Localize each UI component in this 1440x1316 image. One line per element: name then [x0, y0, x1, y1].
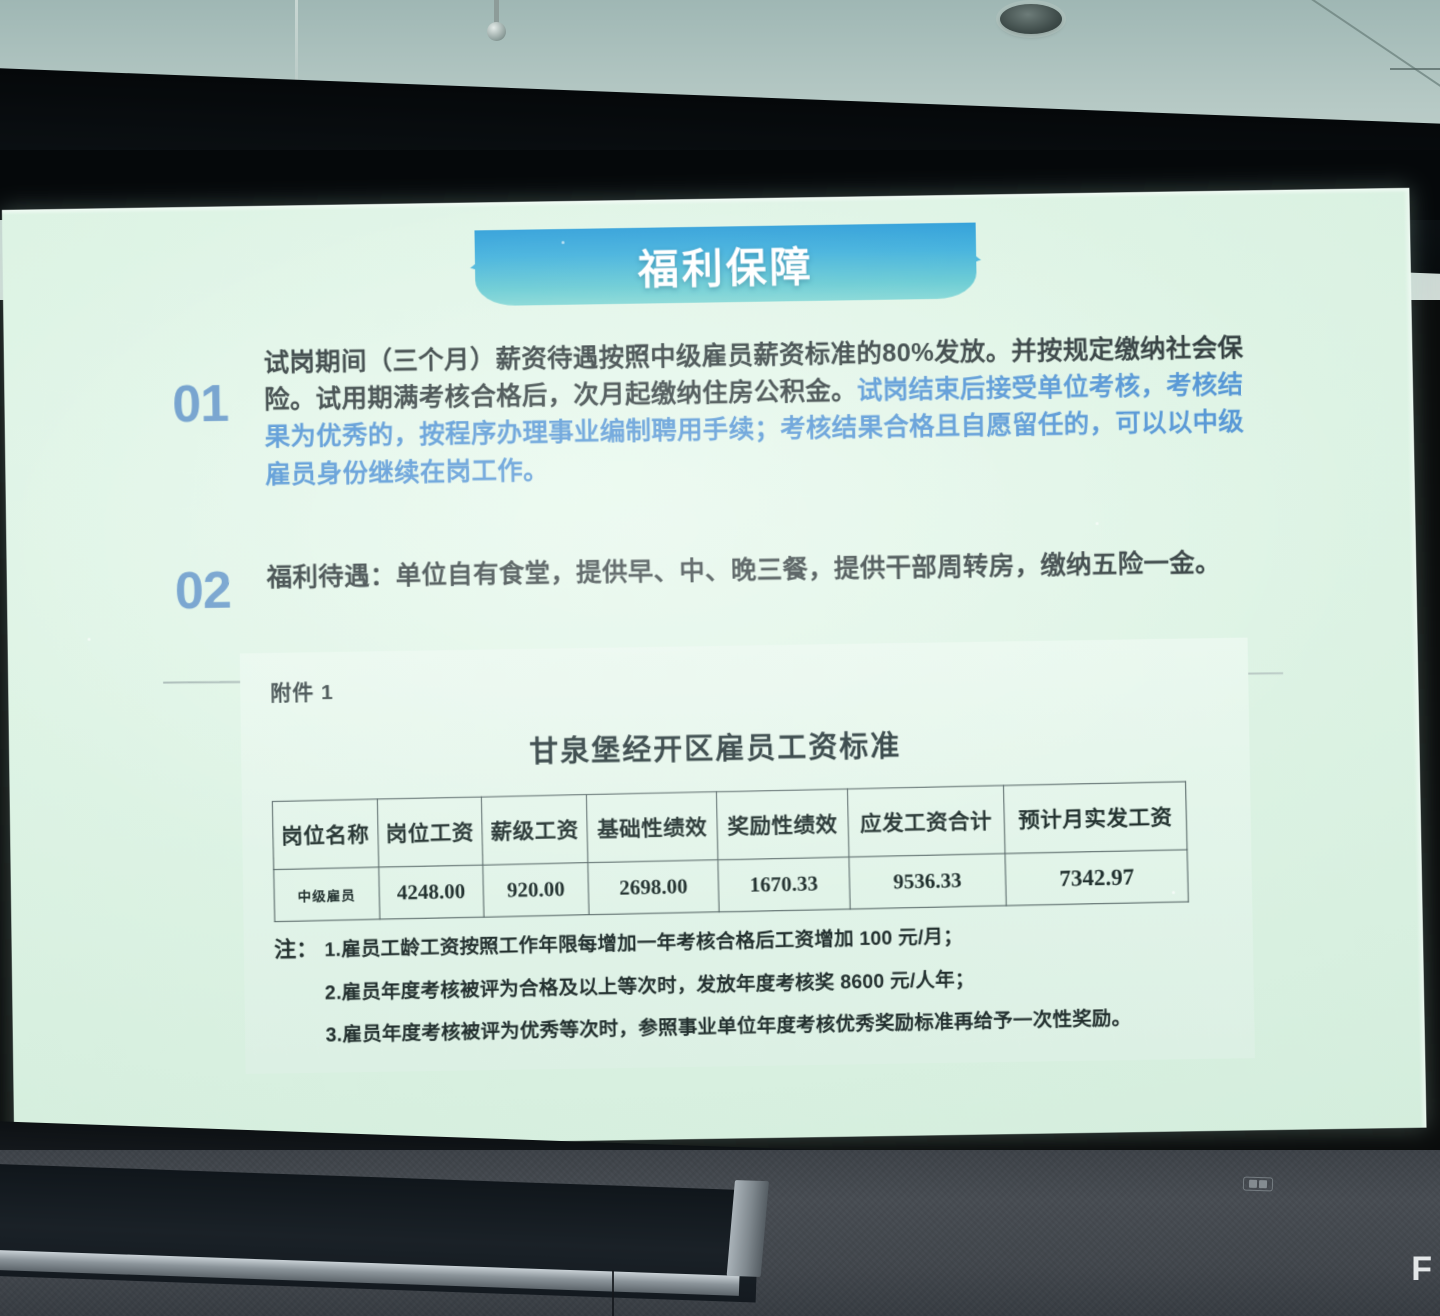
- item-body-01: 试岗期间（三个月）薪资待遇按照中级雇员薪资标准的80%发放。并按规定缴纳社会保险…: [263, 330, 1264, 494]
- cell-grade-salary: 920.00: [483, 863, 589, 917]
- brand-badge-icon: [1243, 1176, 1273, 1191]
- th-base-performance: 基础性绩效: [586, 792, 718, 863]
- cell-gross-total: 9536.33: [849, 854, 1007, 909]
- notes-lead: 注：: [274, 936, 319, 962]
- slide-item-02: 02 福利待遇：单位自有食堂，提供早、中、晚三餐，提供干部周转房，缴纳五险一金。: [7, 542, 1417, 620]
- dust-speck: [1096, 522, 1099, 525]
- cell-base-performance: 2698.00: [588, 860, 720, 915]
- cell-estimated-net: 7342.97: [1005, 850, 1188, 906]
- sprinkler-head-icon: [487, 22, 506, 41]
- conference-room-scene: 福利保障 01 试岗期间（三个月）薪资待遇按照中级雇员薪资标准的80%发放。并按…: [0, 0, 1440, 1316]
- th-bonus-performance: 奖励性绩效: [717, 789, 849, 860]
- slide-title: 福利保障: [443, 222, 1009, 307]
- slide-item-list: 01 试岗期间（三个月）薪资待遇按照中级雇员薪资标准的80%发放。并按规定缴纳社…: [4, 327, 1417, 620]
- th-grade-salary: 薪级工资: [482, 795, 588, 865]
- wall-panel-seam: [612, 1270, 614, 1316]
- cell-post-name: 中级雇员: [274, 867, 380, 921]
- dust-speck: [88, 638, 91, 641]
- th-post-salary: 岗位工资: [377, 797, 483, 867]
- th-gross-total: 应发工资合计: [847, 786, 1005, 857]
- watermark: F: [1411, 1252, 1432, 1286]
- th-post-name: 岗位名称: [272, 799, 378, 869]
- slide-canvas: 福利保障 01 试岗期间（三个月）薪资待遇按照中级雇员薪资标准的80%发放。并按…: [2, 188, 1427, 1150]
- cell-bonus-performance: 1670.33: [718, 857, 850, 912]
- note-item-3: 3.雇员年度考核被评为优秀等次时，参照事业单位年度考核优秀奖励标准再给予一次性奖…: [275, 999, 1225, 1048]
- dust-speck: [562, 241, 565, 244]
- projected-slide: 福利保障 01 试岗期间（三个月）薪资待遇按照中级雇员薪资标准的80%发放。并按…: [2, 188, 1427, 1150]
- note-item-2: 2.雇员年度考核被评为合格及以上等次时，发放年度考核奖 8600 元/人年；: [275, 957, 1224, 1006]
- item-number-02: 02: [175, 564, 268, 617]
- item-02-text-dark: 福利待遇：单位自有食堂，提供早、中、晚三餐，提供干部周转房，缴纳五险一金。: [266, 549, 1221, 592]
- attachment-label: 附件 1: [270, 662, 1218, 707]
- slide-item-01: 01 试岗期间（三个月）薪资待遇按照中级雇员薪资标准的80%发放。并按规定缴纳社…: [4, 327, 1415, 498]
- wage-standard-table: 岗位名称 岗位工资 薪级工资 基础性绩效 奖励性绩效 应发工资合计 预计月实发工…: [272, 781, 1189, 922]
- item-body-02: 福利待遇：单位自有食堂，提供早、中、晚三餐，提供干部周转房，缴纳五险一金。: [266, 544, 1266, 597]
- attachment-document: 附件 1 甘泉堡经开区雇员工资标准 岗位名称 岗位工资 薪级工资 基础性绩效 奖…: [240, 638, 1255, 1074]
- th-estimated-net: 预计月实发工资: [1003, 782, 1187, 854]
- cell-post-salary: 4248.00: [378, 865, 484, 919]
- attachment-title: 甘泉堡经开区雇员工资标准: [271, 718, 1220, 775]
- dust-speck: [1172, 891, 1175, 894]
- item-number-01: 01: [172, 377, 265, 430]
- slide-title-banner: 福利保障: [443, 222, 1009, 307]
- ceiling-seam-horizontal: [1390, 68, 1440, 70]
- note-item-1: 注：1.雇员工龄工资按照工作年限每增加一年考核合格后工资增加 100 元/月；: [274, 912, 1223, 964]
- attachment-notes: 注：1.雇员工龄工资按照工作年限每增加一年考核合格后工资增加 100 元/月； …: [274, 912, 1225, 1048]
- ceiling-speaker-icon: [1000, 4, 1062, 34]
- note-1-text: 1.雇员工龄工资按照工作年限每增加一年考核合格后工资增加 100 元/月；: [324, 926, 963, 961]
